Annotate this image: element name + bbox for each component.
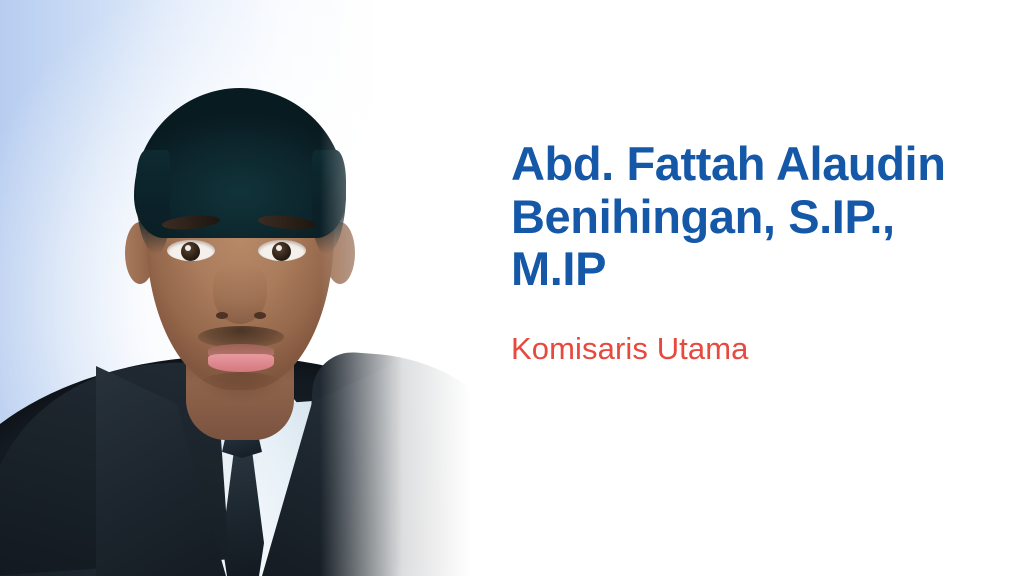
eye-left — [167, 240, 215, 261]
profile-card: Abd. Fattah Alaudin Benihingan, S.IP., M… — [0, 0, 1024, 576]
nostril-right — [254, 312, 266, 319]
person-name: Abd. Fattah Alaudin Benihingan, S.IP., M… — [511, 138, 981, 296]
person-figure — [0, 0, 470, 576]
nostril-left — [216, 312, 228, 319]
iris-left — [181, 242, 200, 261]
iris-right — [272, 242, 291, 261]
portrait-photo — [0, 0, 470, 576]
lower-lip — [208, 354, 274, 372]
eye-right — [258, 240, 306, 261]
text-block: Abd. Fattah Alaudin Benihingan, S.IP., M… — [511, 138, 981, 367]
person-role: Komisaris Utama — [511, 330, 981, 367]
chin-shadow — [196, 372, 286, 402]
